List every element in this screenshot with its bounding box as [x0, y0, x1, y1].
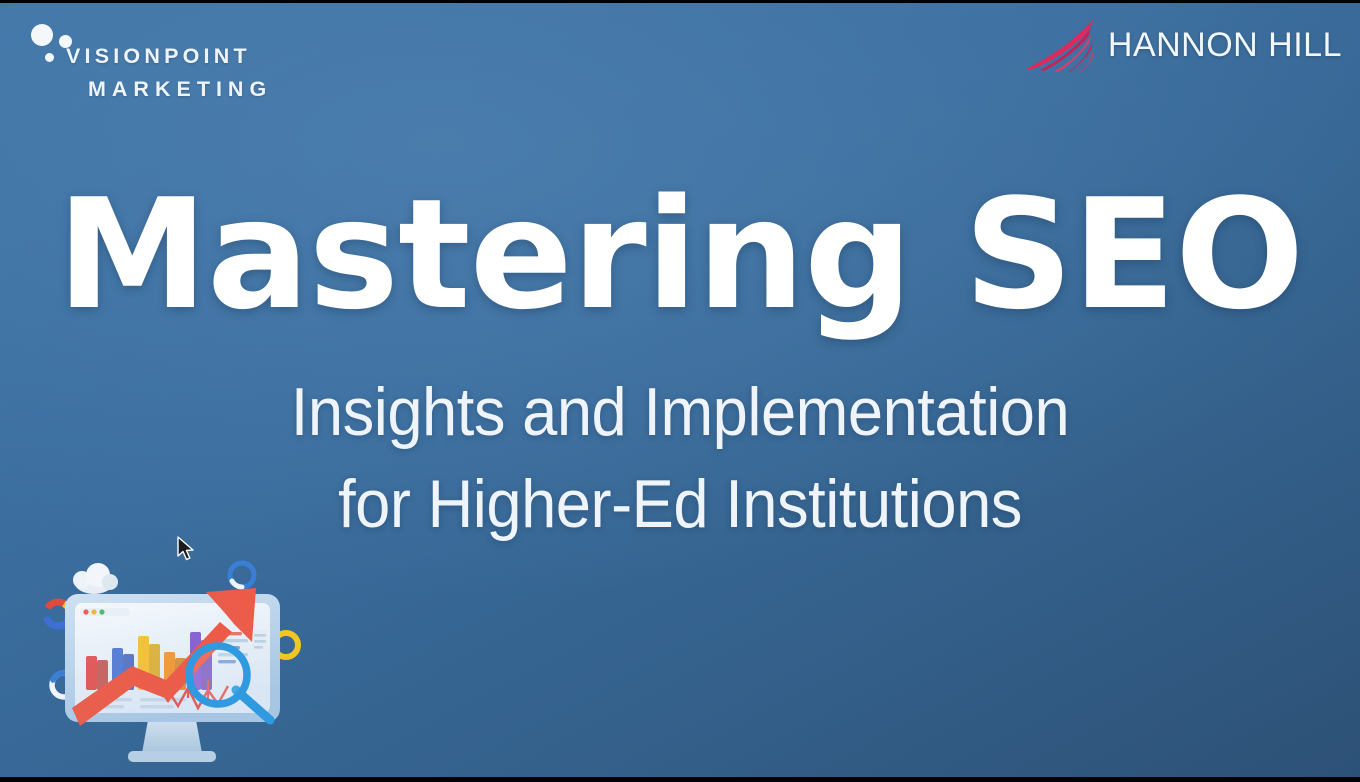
logo-dot-large-icon — [31, 24, 53, 46]
subtitle-line-2: for Higher-Ed Institutions — [48, 459, 1313, 551]
monitor-stand — [128, 720, 216, 762]
logo-dot-small-icon — [45, 53, 54, 62]
letterbox-bar-bottom — [0, 777, 1360, 782]
video-player-frame: VISIONPOINT MARKETING HANNON HILL Master… — [0, 0, 1360, 782]
subtitle-container: Insights and Implementation for Higher-E… — [0, 367, 1360, 551]
visionpoint-logo-line1: VISIONPOINT — [66, 46, 251, 68]
page-title: Mastering SEO — [0, 181, 1360, 330]
presentation-slide: VISIONPOINT MARKETING HANNON HILL Master… — [0, 3, 1360, 777]
hannon-hill-wordmark: HANNON HILL — [1108, 28, 1342, 62]
subtitle-line-1: Insights and Implementation — [48, 367, 1313, 459]
visionpoint-logo-line2: MARKETING — [88, 79, 272, 101]
hannon-hill-swoosh-icon — [1024, 17, 1106, 73]
cloud-icon — [73, 563, 118, 594]
visionpoint-marketing-logo: VISIONPOINT MARKETING — [26, 13, 326, 105]
seo-analytics-illustration — [20, 548, 330, 777]
title-container: Mastering SEO — [0, 181, 1360, 330]
blue-ring-icon — [230, 563, 254, 587]
browser-window-dots-icon — [80, 608, 130, 616]
hannon-hill-logo: HANNON HILL — [1024, 15, 1342, 75]
